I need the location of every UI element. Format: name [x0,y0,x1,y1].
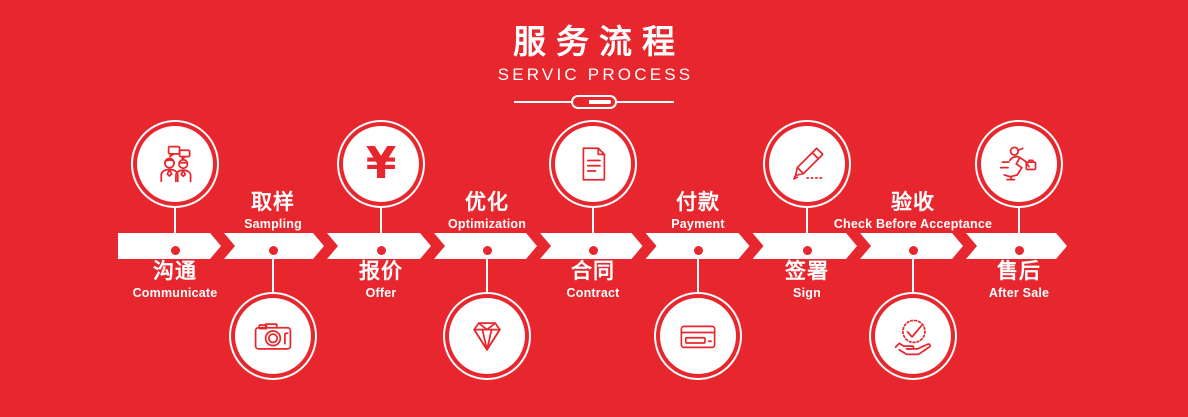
credit-card-icon [660,298,736,374]
process-step-icon-circle-8[interactable] [869,292,957,380]
divider-clip-shape [571,95,617,109]
service-process-banner: 服务流程 SERVIC PROCESS 沟通Communicate取样Sampl… [0,0,1188,417]
running-person-briefcase-icon [981,126,1057,202]
pencil-sign-icon [769,126,845,202]
people-chat-icon [137,126,213,202]
process-node-dot [483,246,492,255]
process-node-dot [377,246,386,255]
diamond-icon [449,298,525,374]
page-title-en: SERVIC PROCESS [0,64,1188,86]
process-node-dot [909,246,918,255]
process-node-dot [1015,246,1024,255]
process-step-icon-circle-4[interactable] [443,292,531,380]
process-step-icon-circle-7[interactable] [763,120,851,208]
process-node-dot [589,246,598,255]
process-step-icon-circle-5[interactable] [549,120,637,208]
step-title-en: Check Before Acceptance [783,216,1043,232]
hand-check-badge-icon [875,298,951,374]
step-title-cn: 售后 [889,259,1149,284]
divider-rule-left [514,101,572,103]
process-node-dot [803,246,812,255]
process-node-dot [171,246,180,255]
document-icon [555,126,631,202]
process-node-stem [1018,208,1020,250]
process-step-icon-circle-9[interactable] [975,120,1063,208]
page-title-cn: 服务流程 [0,22,1188,62]
process-step-icon-circle-3[interactable]: ¥ [337,120,425,208]
process-step-icon-circle-2[interactable] [229,292,317,380]
yen-currency-icon: ¥ [343,126,419,202]
process-node-dot [269,246,278,255]
camera-icon [235,298,311,374]
process-arrow-segment [118,233,221,259]
process-step-icon-circle-1[interactable] [131,120,219,208]
process-step-icon-circle-6[interactable] [654,292,742,380]
paperclip-divider-icon [514,95,674,109]
process-node-dot [694,246,703,255]
banner-header: 服务流程 SERVIC PROCESS [0,22,1188,109]
divider-rule-right [616,101,674,103]
